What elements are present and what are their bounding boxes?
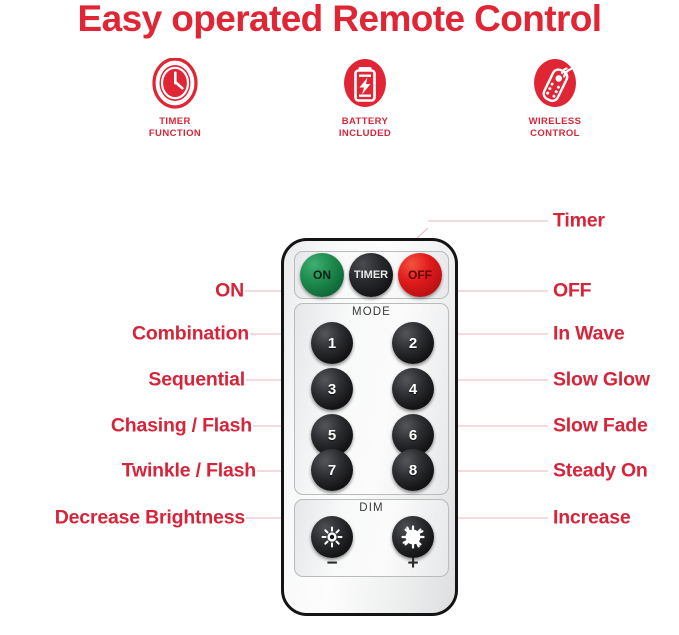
mode-button-8[interactable]: 8 [392, 449, 434, 491]
on-button[interactable]: ON [300, 253, 344, 297]
callout-in-wave: In Wave [553, 323, 625, 346]
infographic-canvas: Easy operated Remote Control TIMER FUNCT… [0, 0, 679, 635]
remote-signal-icon [532, 58, 578, 110]
mode-button-7[interactable]: 7 [311, 449, 353, 491]
feature-label: BATTERY INCLUDED [339, 116, 391, 139]
callout-off: OFF [553, 280, 591, 303]
callout-increase: Increase [553, 507, 631, 530]
callout-decrease-brightness: Decrease Brightness [55, 507, 245, 530]
increase-brightness-button[interactable] [392, 516, 434, 558]
callout-chasing-flash: Chasing / Flash [111, 415, 252, 438]
callout-combination: Combination [132, 323, 249, 346]
callout-twinkle-flash: Twinkle / Flash [122, 460, 256, 483]
callout-on: ON [215, 280, 244, 303]
callout-steady-on: Steady On [553, 460, 648, 483]
page-title: Easy operated Remote Control [0, 0, 679, 40]
mode-button-1[interactable]: 1 [311, 322, 353, 364]
power-panel: ON TIMER OFF [294, 251, 449, 299]
callout-slow-fade: Slow Fade [553, 415, 648, 438]
remote-control-device: ON TIMER OFF MODE 1 2 3 4 5 6 7 8 DIM [281, 238, 458, 616]
mode-button-4[interactable]: 4 [392, 368, 434, 410]
mode-button-3[interactable]: 3 [311, 368, 353, 410]
feature-timer-function: TIMER FUNCTION [115, 58, 235, 139]
sun-large-icon [397, 521, 429, 553]
feature-battery-included: BATTERY INCLUDED [305, 58, 425, 139]
dim-panel: DIM [294, 499, 449, 577]
minus-sign: − [311, 554, 353, 573]
mode-caption: MODE [295, 306, 448, 318]
off-button[interactable]: OFF [398, 253, 442, 297]
callout-sequential: Sequential [148, 369, 245, 392]
feature-wireless-control: WIRELESS CONTROL [495, 58, 615, 139]
clock-icon [152, 58, 198, 110]
feature-label: TIMER FUNCTION [149, 116, 201, 139]
sun-small-icon [316, 521, 348, 553]
callout-slow-glow: Slow Glow [553, 369, 650, 392]
plus-sign: + [392, 554, 434, 573]
timer-button[interactable]: TIMER [349, 253, 393, 297]
mode-panel: MODE 1 2 3 4 5 6 7 8 [294, 303, 449, 495]
battery-icon [342, 58, 388, 110]
feature-badges: TIMER FUNCTION BATTERY INCLUDED [115, 58, 615, 158]
feature-label: WIRELESS CONTROL [529, 116, 582, 139]
dim-caption: DIM [295, 502, 448, 514]
callout-timer: Timer [553, 210, 605, 233]
decrease-brightness-button[interactable] [311, 516, 353, 558]
mode-button-2[interactable]: 2 [392, 322, 434, 364]
